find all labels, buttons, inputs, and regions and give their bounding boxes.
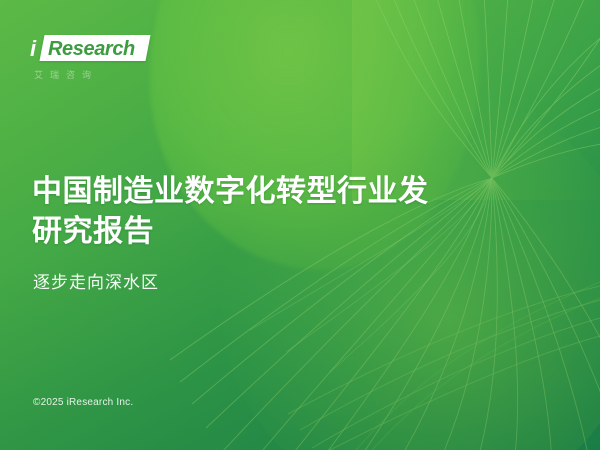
copyright-notice: ©2025 iResearch Inc.: [33, 396, 133, 410]
logo-chinese-name: 艾瑞咨询: [34, 68, 150, 81]
logo-wordmark: Research: [48, 37, 148, 61]
page-title-line-2: 研究报告: [32, 212, 502, 252]
page-title-line-1: 中国制造业数字化转型行业发: [32, 172, 502, 212]
cover-slide: i Research 艾瑞咨询 中国制造业数字化转型行业发 研究报告 逐步走向深…: [0, 0, 600, 450]
iresearch-logo: i Research 艾瑞咨询: [30, 36, 150, 84]
logo-initial-i: i: [30, 37, 36, 61]
page-title: 中国制造业数字化转型行业发 研究报告: [32, 172, 502, 252]
page-subtitle: 逐步走向深水区: [33, 271, 159, 295]
logo-mark: i Research: [30, 36, 148, 62]
